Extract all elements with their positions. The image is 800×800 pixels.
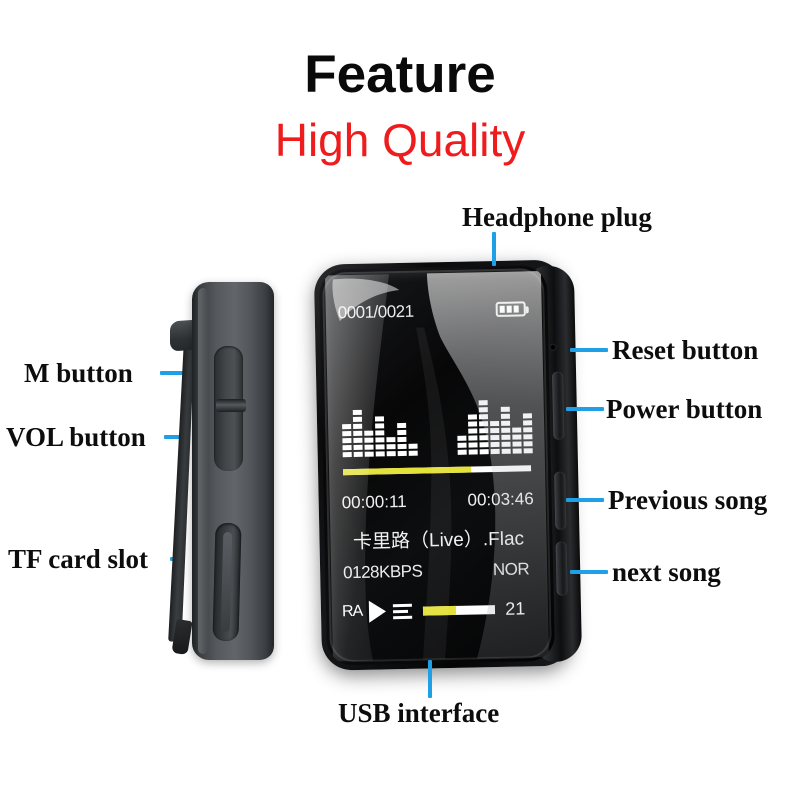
equalizer-column xyxy=(353,410,363,457)
equalizer-segment xyxy=(376,451,385,456)
equalizer-segment xyxy=(354,445,363,450)
equalizer-segment xyxy=(353,424,362,429)
equalizer-segment xyxy=(479,414,488,419)
equalizer-column xyxy=(479,400,489,454)
equalizer-segment xyxy=(342,424,351,429)
equalizer-segment xyxy=(468,414,477,419)
equalizer-segment xyxy=(397,430,406,435)
equalizer-segment xyxy=(523,441,532,446)
equalizer-visualizer xyxy=(341,367,533,457)
equalizer-segment xyxy=(387,451,396,456)
equalizer-segment xyxy=(354,452,363,457)
play-icon[interactable] xyxy=(369,600,386,622)
equalizer-segment xyxy=(376,444,385,449)
equalizer-segment xyxy=(353,431,362,436)
equalizer-column xyxy=(501,407,511,454)
leader-power-button xyxy=(566,407,604,411)
equalizer-segment xyxy=(387,444,396,449)
equalizer-segment xyxy=(398,451,407,456)
equalizer-segment xyxy=(343,452,352,457)
equalizer-segment xyxy=(365,452,374,457)
equalizer-segment xyxy=(490,421,499,426)
equalizer-segment xyxy=(342,431,351,436)
equalizer-segment xyxy=(353,410,362,415)
equalizer-segment xyxy=(457,443,466,448)
equalizer-segment xyxy=(342,438,351,443)
equalizer-column xyxy=(512,427,522,453)
equalizer-column xyxy=(490,421,500,454)
callout-tf-card-slot: TF card slot xyxy=(8,546,148,573)
playback-controls-row[interactable]: RA 21 xyxy=(342,595,543,625)
page-title: Feature xyxy=(0,48,800,101)
device-side-view xyxy=(168,268,286,668)
equalizer-segment xyxy=(479,421,488,426)
equalizer-segment xyxy=(457,436,466,441)
equalizer-segment xyxy=(490,435,499,440)
equalizer-segment xyxy=(375,423,384,428)
eq-mode-label: NOR xyxy=(493,559,530,580)
equalizer-segment xyxy=(501,428,510,433)
equalizer-column xyxy=(342,424,352,457)
equalizer-segment xyxy=(458,450,467,455)
equalizer-segment xyxy=(491,449,500,454)
power-button[interactable] xyxy=(552,372,564,440)
volume-level: 21 xyxy=(505,598,525,619)
equalizer-segment xyxy=(501,414,510,419)
previous-song-button[interactable] xyxy=(554,472,566,530)
equalizer-column xyxy=(409,444,418,456)
equalizer-segment xyxy=(343,445,352,450)
equalizer-segment xyxy=(523,413,532,418)
equalizer-segment xyxy=(523,427,532,432)
repeat-a-icon[interactable]: RA xyxy=(342,603,363,621)
callout-usb-interface: USB interface xyxy=(338,700,499,727)
callout-m-button: M button xyxy=(24,360,133,387)
battery-icon xyxy=(496,301,526,317)
equalizer-segment xyxy=(523,434,532,439)
total-time: 00:03:46 xyxy=(467,489,534,510)
callout-headphone-plug: Headphone plug xyxy=(462,204,652,231)
elapsed-time: 00:00:11 xyxy=(342,492,407,513)
equalizer-segment xyxy=(479,435,488,440)
callout-previous-song: Previous song xyxy=(608,487,767,514)
equalizer-segment xyxy=(512,441,521,446)
equalizer-segment xyxy=(469,449,478,454)
equalizer-segment xyxy=(501,421,510,426)
equalizer-segment xyxy=(468,435,477,440)
volume-bar[interactable] xyxy=(423,605,495,616)
equalizer-column xyxy=(468,414,478,454)
device-front-view: 0001/0021 00:00:11 00:03:46 卡里路（Live）.Fl… xyxy=(314,259,585,674)
equalizer-segment xyxy=(513,448,522,453)
leader-previous-song xyxy=(566,498,604,502)
equalizer-segment xyxy=(468,442,477,447)
equalizer-segment xyxy=(468,428,477,433)
equalizer-segment xyxy=(501,442,510,447)
callout-next-song: next song xyxy=(612,559,721,586)
equalizer-segment xyxy=(398,444,407,449)
equalizer-segment xyxy=(375,430,384,435)
equalizer-segment xyxy=(479,428,488,433)
equalizer-right xyxy=(456,367,533,455)
equalizer-segment xyxy=(512,434,521,439)
equalizer-segment xyxy=(480,449,489,454)
equalizer-column xyxy=(457,436,466,455)
equalizer-column xyxy=(397,423,407,456)
equalizer-segment xyxy=(501,407,510,412)
time-row: 00:00:11 00:03:46 xyxy=(342,489,534,513)
equalizer-segment xyxy=(479,442,488,447)
playback-progress-bar[interactable] xyxy=(343,465,531,475)
equalizer-segment xyxy=(409,451,418,456)
equalizer-segment xyxy=(501,435,510,440)
equalizer-segment xyxy=(353,438,362,443)
leader-headphone-plug xyxy=(492,232,496,266)
equalizer-segment xyxy=(364,431,373,436)
sequence-icon[interactable] xyxy=(393,603,412,618)
equalizer-segment xyxy=(397,423,406,428)
callout-vol-button: VOL button xyxy=(6,424,146,451)
side-button-divider-ridge xyxy=(216,399,246,412)
equalizer-segment xyxy=(490,442,499,447)
equalizer-segment xyxy=(512,427,521,432)
equalizer-segment xyxy=(490,428,499,433)
player-screen[interactable]: 0001/0021 00:00:11 00:03:46 卡里路（Live）.Fl… xyxy=(329,275,545,655)
equalizer-segment xyxy=(375,416,384,421)
equalizer-segment xyxy=(409,444,418,449)
leader-next-song xyxy=(570,570,608,574)
next-song-button[interactable] xyxy=(556,542,568,596)
equalizer-column xyxy=(375,416,385,456)
equalizer-segment xyxy=(523,420,532,425)
equalizer-column xyxy=(386,437,395,456)
meta-row: 0128KBPS NOR xyxy=(343,559,529,583)
song-title: 卡里路（Live）.Flac xyxy=(334,523,543,554)
callout-reset-button: Reset button xyxy=(612,337,758,364)
leader-usb-interface xyxy=(428,660,432,698)
equalizer-segment xyxy=(524,448,533,453)
track-counter: 0001/0021 xyxy=(338,302,414,324)
equalizer-segment xyxy=(397,437,406,442)
equalizer-segment xyxy=(365,445,374,450)
equalizer-segment xyxy=(386,437,395,442)
equalizer-column xyxy=(523,413,533,453)
equalizer-segment xyxy=(502,449,511,454)
equalizer-column xyxy=(364,431,374,457)
feature-diagram-page: Feature High Quality 0001/0021 xyxy=(0,0,800,800)
equalizer-segment xyxy=(479,407,488,412)
page-subtitle: High Quality xyxy=(0,117,800,163)
leader-reset-button xyxy=(570,348,608,352)
equalizer-segment xyxy=(468,421,477,426)
equalizer-segment xyxy=(364,438,373,443)
equalizer-segment xyxy=(479,400,488,405)
tf-card-slot-opening[interactable] xyxy=(212,523,241,642)
equalizer-left xyxy=(341,370,418,458)
callout-power-button: Power button xyxy=(606,396,762,423)
equalizer-segment xyxy=(353,417,362,422)
device-front-face: 0001/0021 00:00:11 00:03:46 卡里路（Live）.Fl… xyxy=(319,265,555,666)
equalizer-segment xyxy=(375,437,384,442)
bitrate-label: 0128KBPS xyxy=(343,562,423,584)
